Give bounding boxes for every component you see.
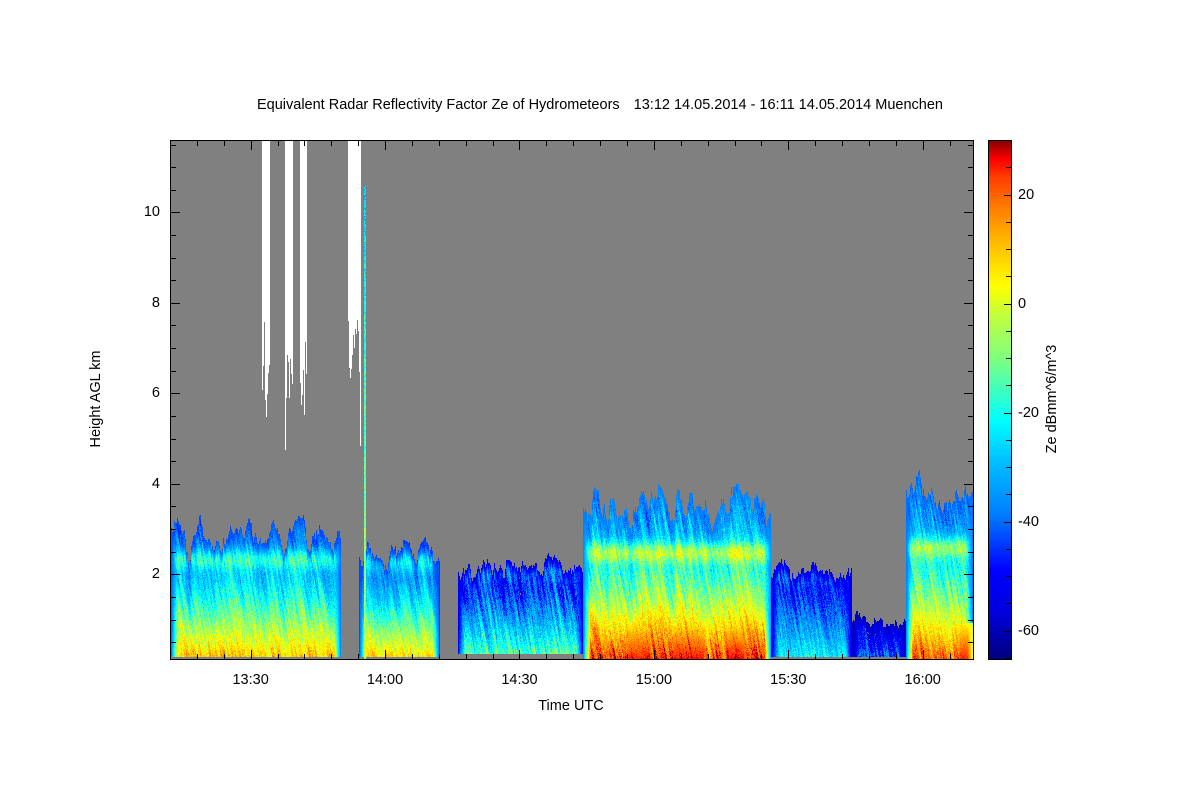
x-axis-tick [385, 141, 386, 150]
x-axis-minor-tick [735, 654, 736, 659]
colorbar-tick [1004, 304, 1011, 305]
y-axis-minor-tick [171, 506, 176, 507]
colorbar-minor-tick [1006, 576, 1011, 577]
y-axis-label: Height AGL km [88, 351, 104, 448]
colorbar-minor-tick [1006, 658, 1011, 659]
x-axis-minor-tick [358, 654, 359, 659]
y-axis-minor-tick [171, 235, 176, 236]
colorbar-tick-label: -60 [1018, 623, 1039, 639]
y-axis-minor-tick [968, 167, 973, 168]
colorbar-minor-tick [1006, 222, 1011, 223]
y-axis-minor-tick [968, 258, 973, 259]
x-axis-minor-tick [331, 141, 332, 146]
x-axis-minor-tick [869, 141, 870, 146]
y-axis-minor-tick [171, 461, 176, 462]
colorbar-label: Ze dBmm^6/m^3 [1044, 345, 1060, 454]
y-axis-minor-tick [968, 145, 973, 146]
x-axis-minor-tick [627, 141, 628, 146]
x-axis-minor-tick [869, 654, 870, 659]
x-axis-tick-label: 15:30 [748, 672, 828, 688]
y-axis-tick [171, 484, 180, 485]
y-axis-minor-tick [968, 461, 973, 462]
x-axis-minor-tick [546, 654, 547, 659]
x-axis-minor-tick [304, 141, 305, 146]
x-axis-minor-tick [493, 141, 494, 146]
y-axis-minor-tick [968, 529, 973, 530]
x-axis-tick-label: 14:00 [345, 672, 425, 688]
colorbar-minor-tick [1006, 603, 1011, 604]
y-axis-tick-label: 8 [114, 295, 160, 311]
colorbar-tick [1004, 631, 1011, 632]
x-axis-minor-tick [170, 654, 171, 659]
x-axis-minor-tick [573, 654, 574, 659]
x-axis-tick [251, 650, 252, 659]
x-axis-minor-tick [950, 654, 951, 659]
y-axis-tick [171, 574, 180, 575]
y-axis-minor-tick [171, 190, 176, 191]
plot-area [170, 140, 974, 660]
y-axis-minor-tick [171, 371, 176, 372]
y-axis-tick [964, 574, 973, 575]
chart-title-main: Equivalent Radar Reflectivity Factor Ze … [257, 97, 620, 113]
y-axis-minor-tick [968, 552, 973, 553]
x-axis-minor-tick [439, 654, 440, 659]
x-axis-minor-tick [170, 141, 171, 146]
y-axis-minor-tick [171, 416, 176, 417]
y-axis-minor-tick [171, 145, 176, 146]
y-axis-tick [964, 303, 973, 304]
colorbar-minor-tick [1006, 167, 1011, 168]
x-axis-minor-tick [439, 141, 440, 146]
x-axis-tick [519, 141, 520, 150]
y-axis-minor-tick [968, 371, 973, 372]
colorbar-tick-label: 20 [1018, 187, 1034, 203]
colorbar-gradient [989, 141, 1011, 659]
x-axis-minor-tick [224, 654, 225, 659]
x-axis-tick-label: 13:30 [211, 672, 291, 688]
x-axis-tick-label: 14:30 [479, 672, 559, 688]
reflectivity-heatmap [171, 141, 973, 659]
colorbar-minor-tick [1006, 467, 1011, 468]
y-axis-tick-label: 6 [114, 385, 160, 401]
x-axis-minor-tick [600, 141, 601, 146]
y-axis-tick [171, 393, 180, 394]
colorbar-minor-tick [1006, 331, 1011, 332]
y-axis-tick [964, 212, 973, 213]
x-axis-minor-tick [278, 141, 279, 146]
y-axis-minor-tick [968, 416, 973, 417]
x-axis-minor-tick [304, 654, 305, 659]
colorbar-minor-tick [1006, 549, 1011, 550]
x-axis-minor-tick [278, 654, 279, 659]
colorbar-tick [1004, 413, 1011, 414]
x-axis-minor-tick [681, 141, 682, 146]
x-axis-tick [923, 141, 924, 150]
colorbar-tick [1004, 522, 1011, 523]
x-axis-minor-tick [546, 141, 547, 146]
radar-reflectivity-figure: Equivalent Radar Reflectivity Factor Ze … [0, 0, 1200, 800]
x-axis-minor-tick [466, 141, 467, 146]
x-axis-tick [788, 650, 789, 659]
colorbar [988, 140, 1012, 660]
x-axis-minor-tick [815, 141, 816, 146]
x-axis-minor-tick [708, 654, 709, 659]
colorbar-minor-tick [1006, 140, 1011, 141]
x-axis-minor-tick [331, 654, 332, 659]
y-axis-minor-tick [968, 506, 973, 507]
x-axis-minor-tick [761, 141, 762, 146]
y-axis-tick-label: 4 [114, 476, 160, 492]
x-axis-minor-tick [842, 141, 843, 146]
x-axis-label: Time UTC [538, 698, 604, 714]
x-axis-minor-tick [761, 654, 762, 659]
x-axis-minor-tick [358, 141, 359, 146]
y-axis-minor-tick [171, 167, 176, 168]
y-axis-minor-tick [968, 620, 973, 621]
x-axis-minor-tick [466, 654, 467, 659]
x-axis-minor-tick [493, 654, 494, 659]
colorbar-minor-tick [1006, 494, 1011, 495]
x-axis-minor-tick [573, 141, 574, 146]
y-axis-tick [171, 303, 180, 304]
colorbar-tick-label: -40 [1018, 514, 1039, 530]
y-axis-minor-tick [968, 642, 973, 643]
x-axis-minor-tick [896, 141, 897, 146]
y-axis-minor-tick [968, 235, 973, 236]
y-axis-minor-tick [171, 552, 176, 553]
x-axis-minor-tick [600, 654, 601, 659]
x-axis-minor-tick [224, 141, 225, 146]
x-axis-minor-tick [735, 141, 736, 146]
y-axis-minor-tick [171, 597, 176, 598]
y-axis-minor-tick [171, 348, 176, 349]
colorbar-tick-label: 0 [1018, 296, 1026, 312]
y-axis-tick [964, 393, 973, 394]
y-axis-minor-tick [968, 190, 973, 191]
x-axis-minor-tick [708, 141, 709, 146]
x-axis-tick [654, 141, 655, 150]
y-axis-minor-tick [171, 642, 176, 643]
y-axis-minor-tick [171, 258, 176, 259]
x-axis-minor-tick [815, 654, 816, 659]
colorbar-minor-tick [1006, 276, 1011, 277]
x-axis-minor-tick [412, 141, 413, 146]
chart-title: Equivalent Radar Reflectivity Factor Ze … [0, 97, 1200, 113]
x-axis-minor-tick [412, 654, 413, 659]
y-axis-minor-tick [171, 529, 176, 530]
x-axis-tick-label: 15:00 [614, 672, 694, 688]
chart-title-range: 13:12 14.05.2014 - 16:11 14.05.2014 Muen… [634, 97, 943, 113]
x-axis-tick [923, 650, 924, 659]
x-axis-tick [251, 141, 252, 150]
y-axis-tick-label: 10 [114, 204, 160, 220]
x-axis-tick [788, 141, 789, 150]
y-axis-tick [964, 484, 973, 485]
x-axis-minor-tick [950, 141, 951, 146]
colorbar-tick [1004, 195, 1011, 196]
x-axis-minor-tick [842, 654, 843, 659]
x-axis-tick [519, 650, 520, 659]
x-axis-tick [385, 650, 386, 659]
y-axis-tick-label: 2 [114, 566, 160, 582]
y-axis-minor-tick [171, 280, 176, 281]
x-axis-tick-label: 16:00 [883, 672, 963, 688]
y-axis-minor-tick [968, 597, 973, 598]
y-axis-minor-tick [968, 325, 973, 326]
x-axis-minor-tick [896, 654, 897, 659]
colorbar-tick-label: -20 [1018, 405, 1039, 421]
x-axis-minor-tick [197, 654, 198, 659]
x-axis-tick [654, 650, 655, 659]
y-axis-minor-tick [968, 439, 973, 440]
colorbar-minor-tick [1006, 440, 1011, 441]
y-axis-minor-tick [968, 348, 973, 349]
x-axis-minor-tick [197, 141, 198, 146]
x-axis-minor-tick [627, 654, 628, 659]
x-axis-minor-tick [681, 654, 682, 659]
colorbar-minor-tick [1006, 385, 1011, 386]
colorbar-minor-tick [1006, 358, 1011, 359]
y-axis-minor-tick [968, 280, 973, 281]
y-axis-minor-tick [171, 325, 176, 326]
y-axis-minor-tick [171, 439, 176, 440]
colorbar-minor-tick [1006, 249, 1011, 250]
y-axis-minor-tick [171, 620, 176, 621]
y-axis-tick [171, 212, 180, 213]
